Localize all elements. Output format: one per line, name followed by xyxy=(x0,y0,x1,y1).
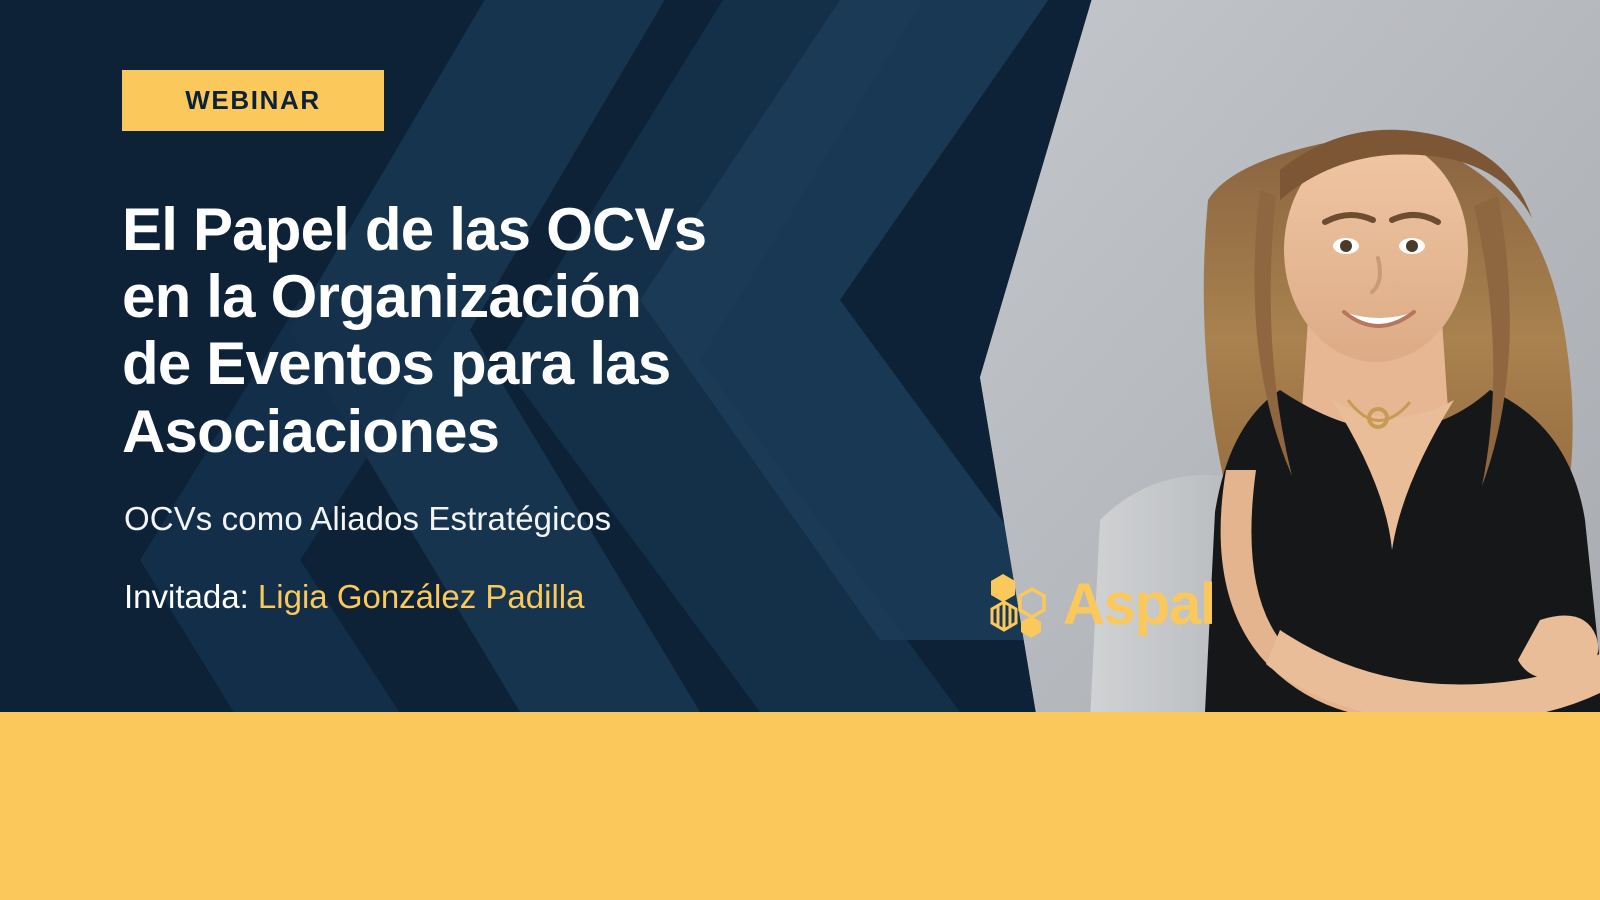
hero-content: WEBINAR El Papel de las OCVs en la Organ… xyxy=(122,0,1022,712)
aspal-wordmark: Aspal xyxy=(1063,576,1215,634)
honeycomb-hexagons-icon xyxy=(987,572,1049,638)
speaker-name: Ligia González Padilla xyxy=(258,578,585,615)
title-line-4: Asociaciones xyxy=(122,398,912,465)
hero-section: WEBINAR El Papel de las OCVs en la Organ… xyxy=(0,0,1600,712)
title-line-2: en la Organización xyxy=(122,263,912,330)
page-subtitle: OCVs como Aliados Estratégicos xyxy=(124,500,611,538)
aspal-logo: Aspal xyxy=(987,572,1215,638)
webinar-badge: WEBINAR xyxy=(122,70,384,131)
page-title: El Papel de las OCVs en la Organización … xyxy=(122,196,912,465)
title-line-1: El Papel de las OCVs xyxy=(122,196,912,263)
speaker-line: Invitada: Ligia González Padilla xyxy=(124,578,584,616)
webinar-banner: WEBINAR El Papel de las OCVs en la Organ… xyxy=(0,0,1600,900)
title-line-3: de Eventos para las xyxy=(122,330,912,397)
webinar-badge-label: WEBINAR xyxy=(185,85,320,116)
footer-bar: FECHA Jueves 12 de Septiembre HORA 16 xyxy=(0,712,1600,900)
speaker-label: Invitada: xyxy=(124,578,249,615)
